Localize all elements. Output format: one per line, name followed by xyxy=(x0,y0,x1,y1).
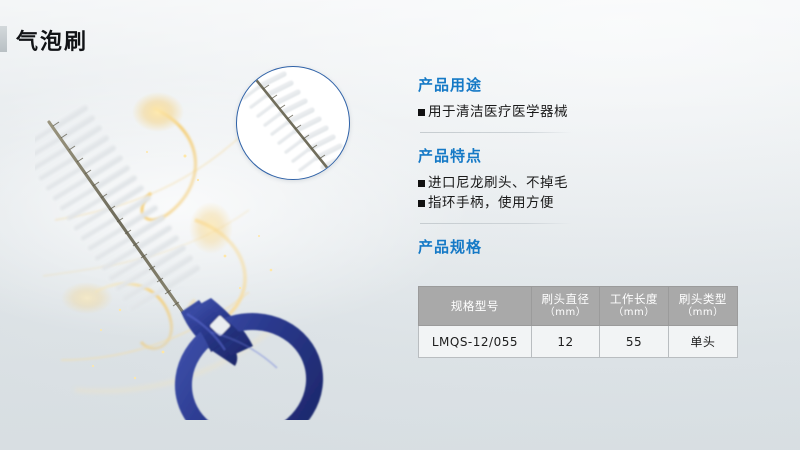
table-header-cell: 刷头直径 （mm） xyxy=(531,287,599,326)
list-item: 用于清洁医疗医学器械 xyxy=(418,102,768,122)
section-heading-uses: 产品用途 xyxy=(418,74,768,95)
square-bullet-icon xyxy=(418,200,425,207)
table-cell-head-type: 单头 xyxy=(668,326,737,358)
bullet-text: 用于清洁医疗医学器械 xyxy=(428,102,568,122)
table-header-cell: 刷头类型 （mm） xyxy=(668,287,737,326)
table-header-cell: 工作长度 （mm） xyxy=(600,287,668,326)
page-title: 气泡刷 xyxy=(16,24,88,56)
square-bullet-icon xyxy=(418,180,425,187)
section-heading-features: 产品特点 xyxy=(418,145,768,166)
product-slide: 气泡刷 xyxy=(0,0,800,450)
header-label: 规格型号 xyxy=(451,299,499,313)
title-accent-bar xyxy=(0,26,7,52)
table-row: LMQS-12/055 12 55 单头 xyxy=(419,326,738,358)
header-unit: （mm） xyxy=(671,306,735,320)
table-cell-length: 55 xyxy=(600,326,668,358)
uses-bullet-list: 用于清洁医疗医学器械 xyxy=(418,102,768,122)
section-product-features: 产品特点 进口尼龙刷头、不掉毛 指环手柄，使用方便 xyxy=(418,145,768,213)
header-unit: （mm） xyxy=(602,306,665,320)
square-bullet-icon xyxy=(418,109,425,116)
section-product-specs: 产品规格 xyxy=(418,236,768,257)
bullet-text: 指环手柄，使用方便 xyxy=(428,193,554,213)
features-bullet-list: 进口尼龙刷头、不掉毛 指环手柄，使用方便 xyxy=(418,173,768,213)
list-item: 进口尼龙刷头、不掉毛 xyxy=(418,173,768,193)
bullet-text: 进口尼龙刷头、不掉毛 xyxy=(428,173,568,193)
header-label: 刷头直径 xyxy=(542,292,590,306)
specification-table: 规格型号 刷头直径 （mm） 工作长度 （mm） 刷头类型 （mm） xyxy=(418,286,738,358)
product-image xyxy=(35,60,395,420)
table-header-cell: 规格型号 xyxy=(419,287,532,326)
magnifier-inset xyxy=(236,66,350,180)
section-divider-1 xyxy=(420,132,572,133)
section-divider-2 xyxy=(420,223,572,224)
magnified-bristle-detail xyxy=(236,66,350,180)
table-cell-diameter: 12 xyxy=(531,326,599,358)
section-heading-specs: 产品规格 xyxy=(418,236,768,257)
section-product-uses: 产品用途 用于清洁医疗医学器械 xyxy=(418,74,768,122)
header-unit: （mm） xyxy=(534,306,597,320)
table-header-row: 规格型号 刷头直径 （mm） 工作长度 （mm） 刷头类型 （mm） xyxy=(419,287,738,326)
table-cell-model: LMQS-12/055 xyxy=(419,326,532,358)
list-item: 指环手柄，使用方便 xyxy=(418,193,768,213)
header-label: 刷头类型 xyxy=(679,292,727,306)
product-info-column: 产品用途 用于清洁医疗医学器械 产品特点 进口尼龙刷头、不掉毛 指环手柄，使用方… xyxy=(418,74,768,264)
header-label: 工作长度 xyxy=(610,292,658,306)
